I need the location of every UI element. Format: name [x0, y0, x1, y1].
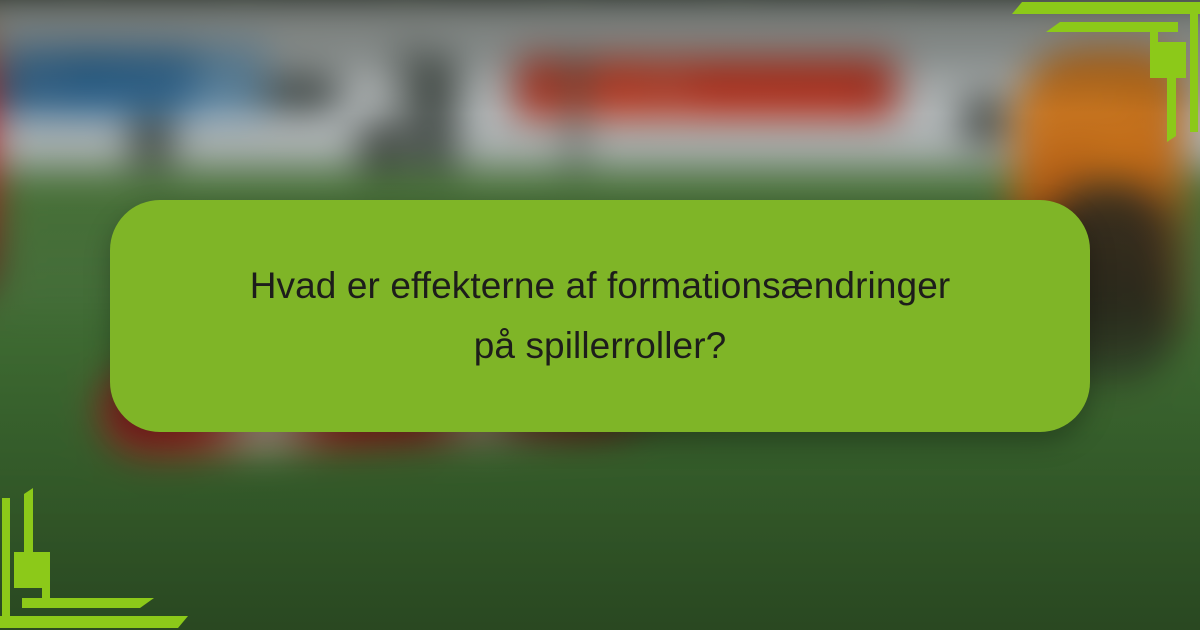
question-text: Hvad er effekterne af formationsændringe…	[250, 256, 951, 376]
question-card: Hvad er effekterne af formationsændringe…	[110, 200, 1090, 432]
share-card-canvas: Hvad er effekterne af formationsændringe…	[0, 0, 1200, 630]
